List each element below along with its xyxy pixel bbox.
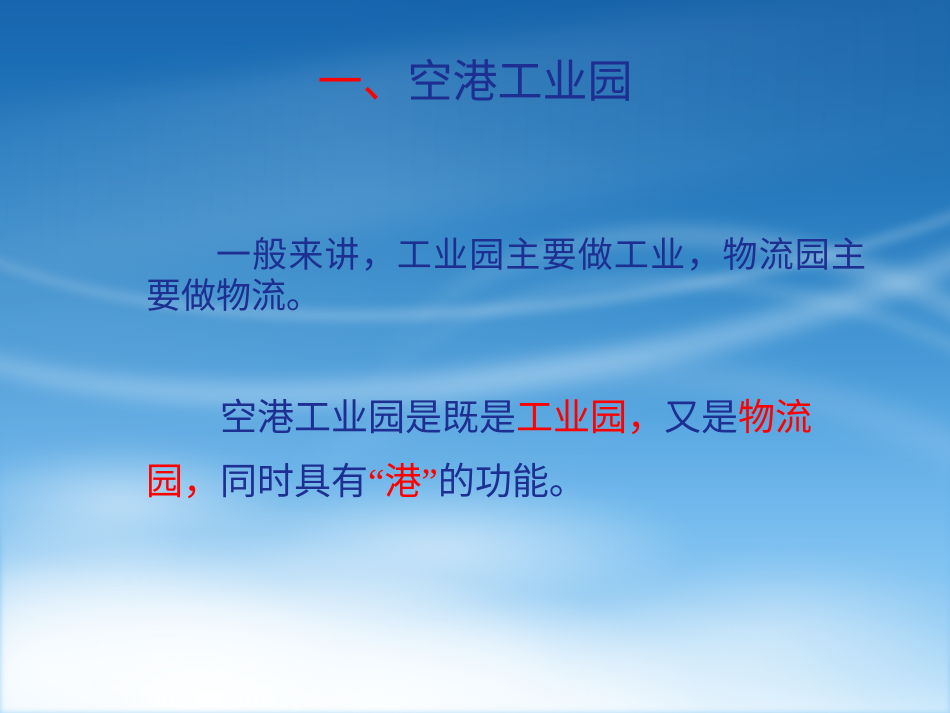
slide-title: 一、空港工业园	[0, 57, 950, 109]
text-run-airport-7: 的功能。	[438, 462, 586, 503]
text-run-general: 一般来讲，工业园主要做工业，物流园主要做物流。	[146, 236, 866, 316]
slide-content: 一、空港工业园 一般来讲，工业园主要做工业，物流园主要做物流。 空港工业园是既是…	[0, 0, 950, 713]
text-run-airport-industrial-park: 工业园，	[516, 398, 664, 439]
text-run-airport-3: 又是	[664, 398, 738, 439]
body-text-block: 一般来讲，工业园主要做工业，物流园主要做物流。	[146, 235, 866, 318]
slide-title-heading: 空港工业园	[408, 57, 633, 107]
presentation-slide: 一、空港工业园 一般来讲，工业园主要做工业，物流园主要做物流。 空港工业园是既是…	[0, 0, 950, 713]
text-run-airport-port-quoted: “港”	[368, 462, 438, 503]
paragraph-general-definition: 一般来讲，工业园主要做工业，物流园主要做物流。	[146, 235, 866, 318]
slide-title-numeral: 一、	[317, 57, 407, 107]
text-run-airport-5: 同时具有	[220, 462, 368, 503]
paragraph-airport-park-definition: 空港工业园是既是工业园，又是物流园，同时具有“港”的功能。	[146, 387, 876, 514]
text-run-airport-1: 空港工业园是既是	[220, 398, 516, 439]
